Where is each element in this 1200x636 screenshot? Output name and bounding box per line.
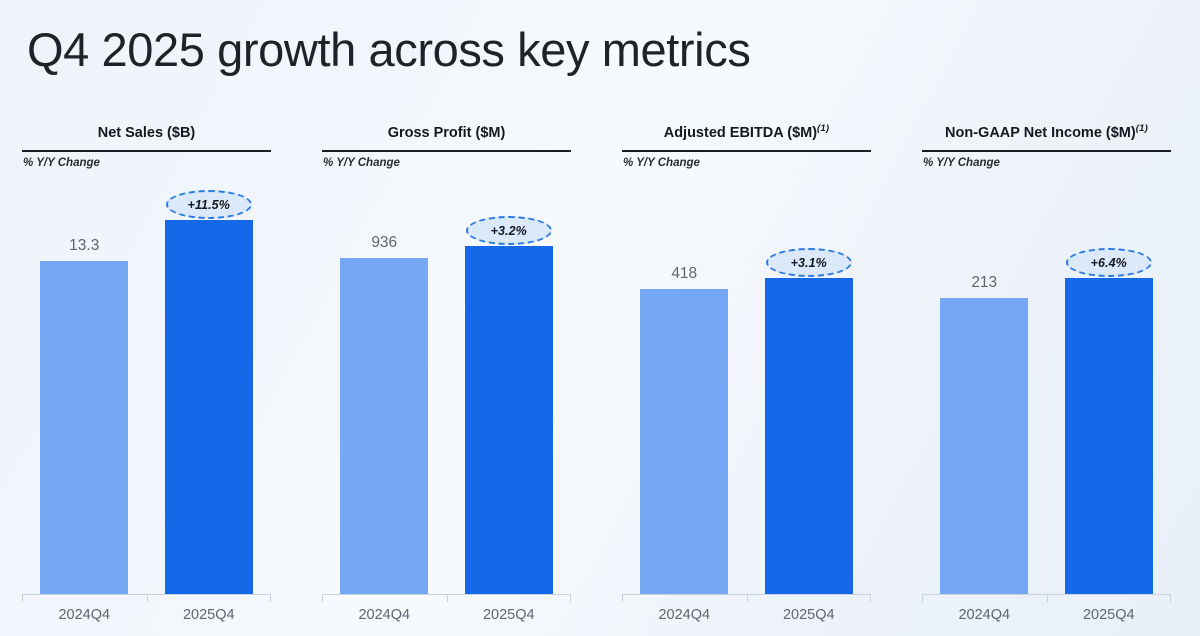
axis-tick bbox=[747, 594, 748, 602]
bar-chart-gross-profit: 936 966 +3.2% 2024Q4 2025Q4 bbox=[322, 148, 571, 636]
category-axis: 2024Q4 2025Q4 bbox=[622, 602, 871, 628]
bar-current[interactable]: 966 +3.2% bbox=[465, 246, 553, 594]
panel-header-gross-profit: Gross Profit ($M) bbox=[322, 124, 571, 150]
bar-slot-prior: 213 bbox=[922, 148, 1047, 594]
panel-header-non-gaap-net-income: Non-GAAP Net Income ($M)(1) bbox=[922, 124, 1171, 150]
category-axis: 2024Q4 2025Q4 bbox=[322, 602, 571, 628]
bar-value-label: 13.3 bbox=[69, 237, 99, 255]
category-label-prior: 2024Q4 bbox=[622, 602, 747, 628]
panel-footnote-mark: (1) bbox=[817, 123, 829, 134]
bar-slot-prior: 418 bbox=[622, 148, 747, 594]
bar-current[interactable]: 14.9 +11.5% bbox=[165, 220, 253, 594]
category-label-prior: 2024Q4 bbox=[22, 602, 147, 628]
bar-prior[interactable]: 213 bbox=[940, 298, 1028, 594]
axis-tick bbox=[322, 594, 323, 602]
category-label-prior: 2024Q4 bbox=[922, 602, 1047, 628]
yy-change-badge: +3.1% bbox=[766, 248, 852, 277]
panel-footnote-mark: (1) bbox=[1136, 123, 1148, 134]
bar-slot-current: 227 +6.4% bbox=[1047, 148, 1172, 594]
bar-value-label: 418 bbox=[671, 265, 697, 283]
bar-current[interactable]: 431 +3.1% bbox=[765, 278, 853, 594]
bar-slot-current: 966 +3.2% bbox=[447, 148, 572, 594]
axis-tick bbox=[270, 594, 271, 602]
axis-tick bbox=[22, 594, 23, 602]
metric-panel-adjusted-ebitda: Adjusted EBITDA ($M)(1) % Y/Y Change 418 bbox=[600, 124, 900, 636]
category-axis: 2024Q4 2025Q4 bbox=[22, 602, 271, 628]
bar-slot-prior: 13.3 bbox=[22, 148, 147, 594]
category-label-current: 2025Q4 bbox=[747, 602, 872, 628]
metrics-panel-row: Net Sales ($B) % Y/Y Change 13.3 bbox=[0, 124, 1200, 636]
panel-title-text: Non-GAAP Net Income ($M) bbox=[945, 125, 1136, 141]
axis-tick bbox=[922, 594, 923, 602]
axis-tick bbox=[570, 594, 571, 602]
metric-panel-non-gaap-net-income: Non-GAAP Net Income ($M)(1) % Y/Y Change… bbox=[900, 124, 1200, 636]
bar-group: 213 227 +6.4% bbox=[922, 148, 1171, 594]
bar-prior[interactable]: 936 bbox=[340, 258, 428, 594]
bar-chart-adjusted-ebitda: 418 431 +3.1% 2024Q4 2025Q4 bbox=[622, 148, 871, 636]
bar-group: 418 431 +3.1% bbox=[622, 148, 871, 594]
bar-current[interactable]: 227 +6.4% bbox=[1065, 278, 1153, 594]
category-label-current: 2025Q4 bbox=[1047, 602, 1172, 628]
bar-slot-current: 431 +3.1% bbox=[747, 148, 872, 594]
axis-tick bbox=[622, 594, 623, 602]
page-title: Q4 2025 growth across key metrics bbox=[27, 22, 750, 77]
bar-value-label: 213 bbox=[971, 274, 997, 292]
metric-panel-gross-profit: Gross Profit ($M) % Y/Y Change 936 bbox=[300, 124, 600, 636]
bar-group: 936 966 +3.2% bbox=[322, 148, 571, 594]
bar-prior[interactable]: 418 bbox=[640, 289, 728, 594]
bar-slot-current: 14.9 +11.5% bbox=[147, 148, 272, 594]
yy-change-badge: +11.5% bbox=[166, 190, 252, 219]
bar-chart-net-sales: 13.3 14.9 +11.5% 2024Q4 2025Q4 bbox=[22, 148, 271, 636]
yy-change-badge: +6.4% bbox=[1066, 248, 1152, 277]
panel-title-text: Gross Profit ($M) bbox=[388, 125, 506, 141]
panel-header-adjusted-ebitda: Adjusted EBITDA ($M)(1) bbox=[622, 124, 871, 150]
bar-prior[interactable]: 13.3 bbox=[40, 261, 128, 594]
panel-header-net-sales: Net Sales ($B) bbox=[22, 124, 271, 150]
axis-tick bbox=[870, 594, 871, 602]
axis-tick bbox=[147, 594, 148, 602]
axis-tick bbox=[1047, 594, 1048, 602]
axis-tick bbox=[447, 594, 448, 602]
category-label-prior: 2024Q4 bbox=[322, 602, 447, 628]
category-axis: 2024Q4 2025Q4 bbox=[922, 602, 1171, 628]
bar-value-label: 936 bbox=[371, 234, 397, 252]
metric-panel-net-sales: Net Sales ($B) % Y/Y Change 13.3 bbox=[0, 124, 300, 636]
panel-title-text: Net Sales ($B) bbox=[98, 125, 196, 141]
axis-tick bbox=[1170, 594, 1171, 602]
bar-group: 13.3 14.9 +11.5% bbox=[22, 148, 271, 594]
category-label-current: 2025Q4 bbox=[447, 602, 572, 628]
category-label-current: 2025Q4 bbox=[147, 602, 272, 628]
bar-slot-prior: 936 bbox=[322, 148, 447, 594]
panel-title-text: Adjusted EBITDA ($M) bbox=[664, 125, 817, 141]
bar-chart-non-gaap-net-income: 213 227 +6.4% 2024Q4 2025Q4 bbox=[922, 148, 1171, 636]
yy-change-badge: +3.2% bbox=[466, 216, 552, 245]
